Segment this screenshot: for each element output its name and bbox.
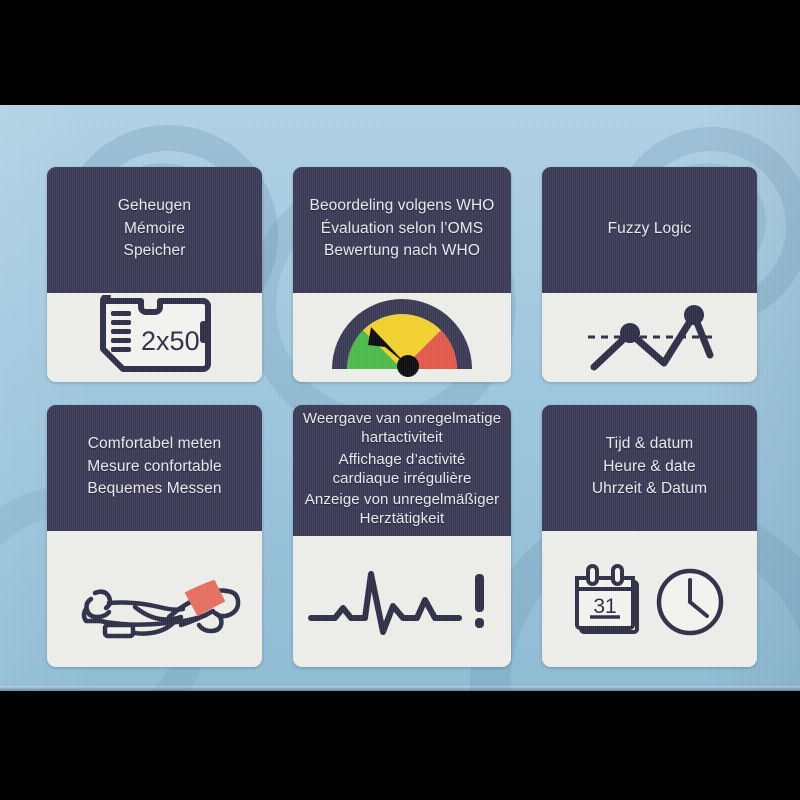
feature-card-body xyxy=(293,293,511,382)
feature-label-nl: Tijd & datum xyxy=(606,433,694,456)
feature-card-irregular-heartbeat: Weergave van onregelmatige hartactivitei… xyxy=(293,405,511,667)
feature-card-body xyxy=(542,293,757,382)
fuzzy-logic-chart-icon xyxy=(542,301,757,375)
feature-label-nl: Beoordeling volgens WHO xyxy=(310,195,495,218)
feature-label-de: Bewertung nach WHO xyxy=(324,240,480,263)
feature-card-who-classification: Beoordeling volgens WHO Évaluation selon… xyxy=(293,167,511,382)
calendar-clock-group: 31 xyxy=(542,560,757,638)
feature-label-nl: Fuzzy Logic xyxy=(608,218,692,241)
feature-label-nl: Geheugen xyxy=(118,195,191,218)
feature-card-header: Fuzzy Logic xyxy=(542,167,757,293)
feature-card-header: Comfortabel meten Mesure confortable Beq… xyxy=(47,405,262,531)
feature-label-de: Uhrzeit & Datum xyxy=(592,478,707,501)
feature-label-de: Bequemes Messen xyxy=(87,478,221,501)
package-bottom-edge xyxy=(0,686,800,691)
feature-card-time-and-date: Tijd & datum Heure & date Uhrzeit & Datu… xyxy=(542,405,757,667)
calendar-day-number: 31 xyxy=(593,595,616,618)
clock-icon xyxy=(651,560,729,638)
feature-card-grid: Geheugen Mémoire Speicher xyxy=(47,167,757,667)
feature-label-de: Anzeige von unregelmäßiger Herztätigkeit xyxy=(305,491,499,529)
feature-label-fr: Affichage d’activité cardiaque irréguliè… xyxy=(333,451,472,489)
feature-card-memory: Geheugen Mémoire Speicher xyxy=(47,167,262,382)
feature-label-nl: Weergave van onregelmatige hartactivitei… xyxy=(303,410,501,448)
feature-label-fr: Évaluation selon l’OMS xyxy=(321,218,483,241)
feature-card-header: Weergave van onregelmatige hartactivitei… xyxy=(293,405,511,536)
screenshot-stage: Geheugen Mémoire Speicher xyxy=(0,0,800,800)
feature-card-body: 31 xyxy=(542,531,757,667)
feature-card-body: 2x50 xyxy=(47,293,262,382)
feature-card-body xyxy=(293,536,511,667)
feature-label-nl: Comfortabel meten xyxy=(88,433,222,456)
reclining-person-cuff-icon xyxy=(47,557,262,641)
feature-card-header: Geheugen Mémoire Speicher xyxy=(47,167,262,293)
product-package-photo: Geheugen Mémoire Speicher xyxy=(0,105,800,691)
ecg-alert-icon xyxy=(293,566,511,638)
memory-capacity-label: 2x50 xyxy=(141,326,200,357)
feature-card-body xyxy=(47,531,262,667)
calendar-icon: 31 xyxy=(571,560,645,638)
feature-card-comfortable-measurement: Comfortabel meten Mesure confortable Beq… xyxy=(47,405,262,667)
memory-card-icon: 2x50 xyxy=(47,295,262,381)
feature-label-fr: Heure & date xyxy=(603,456,696,479)
feature-label-fr: Mémoire xyxy=(124,218,185,241)
feature-card-header: Beoordeling volgens WHO Évaluation selon… xyxy=(293,167,511,293)
who-gauge-icon xyxy=(293,297,511,379)
feature-card-fuzzy-logic: Fuzzy Logic xyxy=(542,167,757,382)
feature-label-fr: Mesure confortable xyxy=(87,456,221,479)
feature-card-header: Tijd & datum Heure & date Uhrzeit & Datu… xyxy=(542,405,757,531)
feature-label-de: Speicher xyxy=(124,240,186,263)
